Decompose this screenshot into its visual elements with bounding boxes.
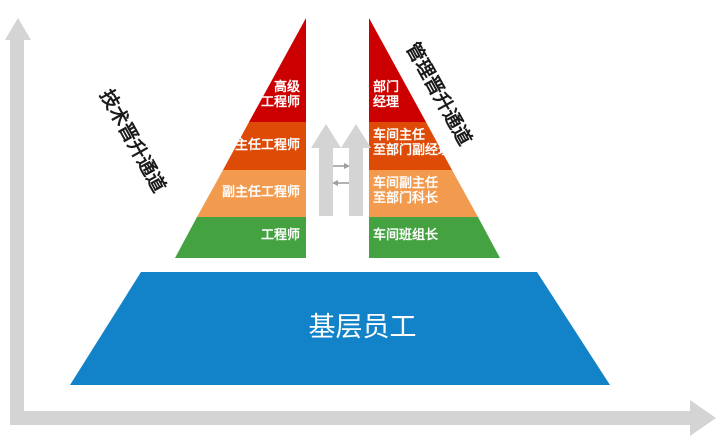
career-ladder-diagram — [0, 0, 725, 439]
diagram-canvas: 高级 工程师 主任工程师 副主任工程师 工程师 部门 经理 车间主任 至部门副经… — [0, 0, 725, 439]
left-level-4-shape — [175, 217, 306, 258]
left-level-1-shape — [249, 18, 306, 122]
right-level-3-shape — [369, 170, 478, 217]
horizontal-axis-arrow — [10, 400, 716, 436]
right-pyramid — [369, 18, 500, 258]
base-trapezoid-shape — [70, 272, 610, 385]
cross-arrow-top — [333, 163, 350, 169]
cross-arrow-bottom — [332, 180, 349, 186]
center-right-up-arrow — [341, 124, 371, 216]
center-arrow-group — [311, 124, 371, 216]
left-pyramid — [175, 18, 306, 258]
left-level-3-shape — [197, 170, 306, 217]
right-level-2-shape — [369, 122, 452, 170]
vertical-axis-arrow — [5, 18, 31, 418]
left-level-2-shape — [223, 122, 306, 170]
center-left-up-arrow — [311, 124, 341, 216]
right-level-4-shape — [369, 217, 500, 258]
